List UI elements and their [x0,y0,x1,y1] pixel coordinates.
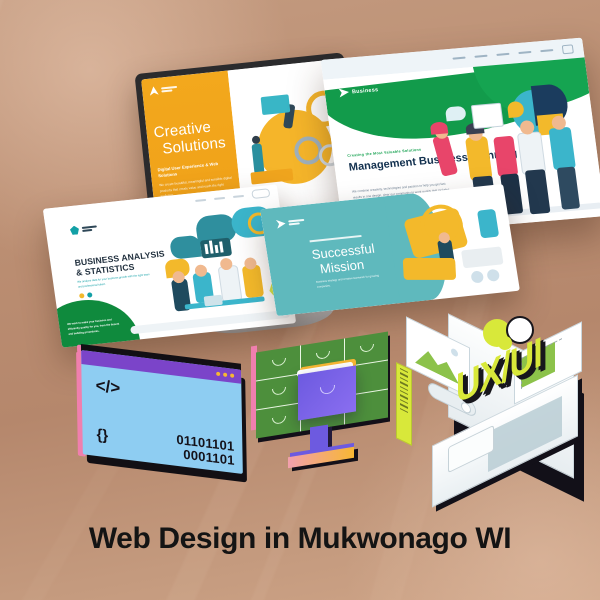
window-dot-icon[interactable] [216,372,220,377]
grid-cell-glyph [272,358,286,367]
layout-grid-monitor[interactable] [256,342,404,470]
nav-item[interactable] [233,194,244,197]
mission-illustration [386,184,520,303]
business-analysis-slide[interactable]: BUSINESS ANALYSIS & STATISTICS We analyz… [43,184,296,347]
dot [87,292,93,297]
binary-text: 01101101 0001101 [176,433,235,469]
window-dot-icon[interactable] [223,373,227,378]
chart-bars [261,94,291,115]
code-browser-window[interactable]: </> {} 01101101 0001101 [81,350,243,480]
page-title: Web Design in Mukwonago WI [0,522,600,556]
window-dot-icon[interactable] [230,373,234,378]
logo-wordmark [288,219,305,226]
grid-cell-glyph [360,344,374,353]
logo-wordmark [161,86,177,93]
logo-mark-icon [276,219,286,229]
nav-item[interactable] [474,54,487,58]
grid-cell-glyph [272,416,286,425]
nav-item[interactable] [540,49,553,53]
ux-ui-laptop[interactable]: UX/UI [392,318,592,488]
nav-item[interactable] [518,51,531,55]
logo-mark-icon [149,86,159,96]
grid-cell-glyph [272,387,286,396]
creative-solutions-title: Creative Solutions [153,118,229,159]
sun-icon [451,347,458,357]
poster-canvas: Creative Solutions Digital User Experien… [0,0,600,600]
curly-brace-icon: {} [96,426,108,444]
brand-logo [149,79,223,96]
nav-cta-button[interactable] [251,188,270,199]
slide-dots [79,292,93,298]
logo-wordmark [82,225,98,232]
nav-item[interactable] [214,196,225,199]
slide-brand-logo [69,223,97,235]
dot [79,293,85,298]
title-line-1: Management [348,156,417,174]
ruler-icon [396,362,412,446]
grid-cell-glyph [316,351,330,360]
nav-cta-button[interactable] [562,44,574,54]
logo-mark-icon [69,225,79,235]
logo-mark-icon [338,88,349,98]
code-tag-icon: </> [95,376,120,399]
nav-item[interactable] [195,198,206,201]
nav-item[interactable] [496,53,509,57]
nav-item[interactable] [452,56,465,60]
brand-name: Business [352,87,379,95]
window-frame: </> {} 01101101 0001101 [81,350,243,474]
